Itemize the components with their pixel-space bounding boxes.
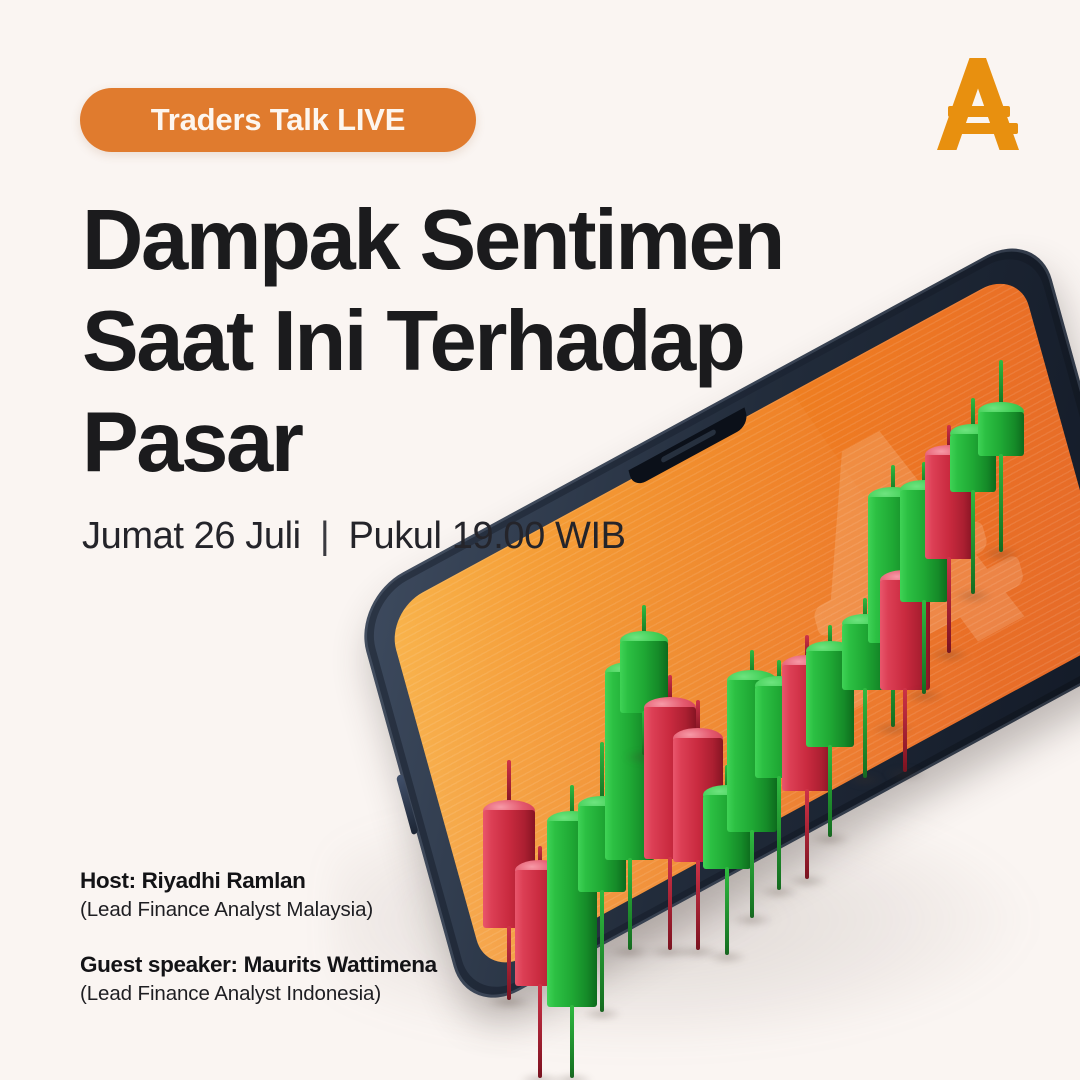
candle-down	[925, 425, 973, 653]
live-badge-label: Traders Talk LIVE	[151, 102, 405, 138]
candle-up	[978, 360, 1024, 552]
live-badge[interactable]: Traders Talk LIVE	[80, 88, 476, 152]
headline-line-3: Pasar	[82, 392, 842, 493]
candle-up	[950, 398, 996, 594]
credit-name: Guest speaker: Maurits Wattimena	[80, 950, 437, 979]
credit-host: Host: Riyadhi Ramlan (Lead Finance Analy…	[80, 866, 437, 924]
candle-down	[673, 700, 723, 950]
candle-up	[703, 765, 751, 955]
candle-up	[605, 640, 655, 950]
page-title: Dampak Sentimen Saat Ini Terhadap Pasar	[82, 190, 842, 493]
schedule-date: Jumat 26 Juli	[82, 515, 301, 557]
candle-up	[547, 785, 597, 1078]
candle-down	[515, 846, 565, 1078]
candle-up	[727, 650, 777, 918]
credit-role: (Lead Finance Analyst Malaysia)	[80, 895, 437, 924]
brand-a-logo-icon	[928, 52, 1028, 156]
headline-line-2: Saat Ini Terhadap	[82, 291, 842, 392]
candle-up	[868, 465, 918, 727]
schedule-line: Jumat 26 Juli | Pukul 19.00 WIB	[82, 515, 626, 558]
candle-up	[900, 462, 948, 694]
candle-up	[842, 598, 888, 778]
schedule-separator: |	[311, 515, 338, 557]
candle-up	[806, 625, 854, 837]
speaker-credits: Host: Riyadhi Ramlan (Lead Finance Analy…	[80, 866, 437, 1008]
promo-poster: Traders Talk LIVE Dampak Sentimen Saat I…	[0, 0, 1080, 1080]
credit-role: (Lead Finance Analyst Indonesia)	[80, 979, 437, 1008]
candle-up	[620, 605, 668, 755]
schedule-time: Pukul 19.00 WIB	[349, 515, 626, 557]
candle-down	[782, 635, 832, 879]
credit-name: Host: Riyadhi Ramlan	[80, 866, 437, 895]
phone-side-button	[396, 774, 418, 836]
candle-up	[578, 742, 626, 1012]
candle-down	[880, 542, 930, 772]
credit-guest-speaker: Guest speaker: Maurits Wattimena (Lead F…	[80, 950, 437, 1008]
candle-up	[755, 660, 803, 890]
headline-line-1: Dampak Sentimen	[82, 190, 842, 291]
candle-down	[644, 675, 696, 950]
candle-down	[483, 760, 535, 1000]
